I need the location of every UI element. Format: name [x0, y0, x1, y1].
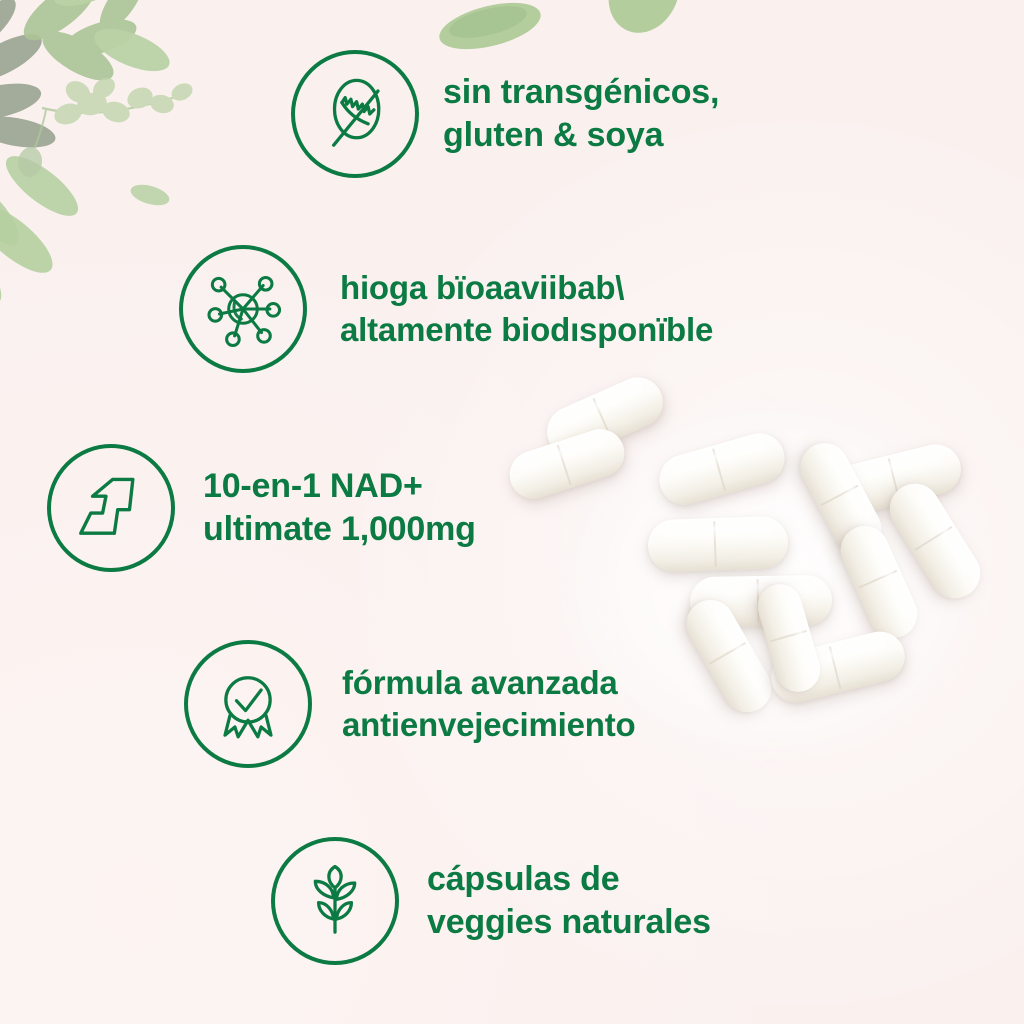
- capsule: [880, 474, 989, 607]
- capsule: [647, 516, 789, 573]
- feature-row-anti-aging: fórmula avanzada antienvejecimiento: [184, 640, 636, 768]
- feature-line: ultimate 1,000mg: [203, 508, 476, 551]
- feature-row-veggie-capsules: cápsulas de veggies naturales: [271, 837, 711, 965]
- no-gmo-grain-icon: [291, 50, 419, 178]
- feature-row-bioavailability: hioga bïoaaviibab\ altamente biodısponïb…: [179, 245, 713, 373]
- feature-line: altamente biodısponïble: [340, 309, 713, 351]
- leaf-decoration-top-left: [0, 0, 312, 280]
- feature-line: antienvejecimiento: [342, 704, 636, 746]
- molecule-network-icon: [179, 245, 307, 373]
- leaf-decoration-left: [0, 175, 200, 305]
- feature-row-non-gmo: sin transgénicos, gluten & soya: [291, 50, 719, 178]
- capsule: [654, 427, 791, 510]
- capsule: [766, 626, 910, 707]
- feature-line: fórmula avanzada: [342, 662, 636, 704]
- feature-label-bioavailability: hioga bïoaaviibab\ altamente biodısponïb…: [340, 267, 713, 350]
- feature-line: 10-en-1 NAD+: [203, 465, 476, 508]
- capsule: [833, 518, 925, 645]
- feature-label-anti-aging: fórmula avanzada antienvejecimiento: [342, 662, 636, 745]
- capsule: [828, 439, 966, 519]
- capsule: [678, 591, 781, 721]
- feature-row-potency: 10-en-1 NAD+ ultimate 1,000mg: [47, 444, 476, 572]
- feature-line: gluten & soya: [443, 114, 719, 157]
- feature-line: sin transgénicos,: [443, 71, 719, 114]
- capsule: [503, 423, 630, 505]
- feature-line: veggies naturales: [427, 901, 711, 944]
- capsule: [690, 575, 833, 627]
- award-check-icon: [184, 640, 312, 768]
- feature-label-potency: 10-en-1 NAD+ ultimate 1,000mg: [203, 465, 476, 551]
- capsule: [753, 579, 826, 697]
- capsule: [792, 435, 890, 562]
- product-feature-infographic: sin transgénicos, gluten & soya: [0, 0, 1024, 1024]
- feature-line: cápsulas de: [427, 858, 711, 901]
- up-arrow-icon: [47, 444, 175, 572]
- capsule: [539, 369, 671, 464]
- feature-label-veggie-capsules: cápsulas de veggies naturales: [427, 858, 711, 944]
- feature-line: hioga bïoaaviibab\: [340, 267, 713, 309]
- plant-sprig-icon: [271, 837, 399, 965]
- feature-label-non-gmo: sin transgénicos, gluten & soya: [443, 71, 719, 157]
